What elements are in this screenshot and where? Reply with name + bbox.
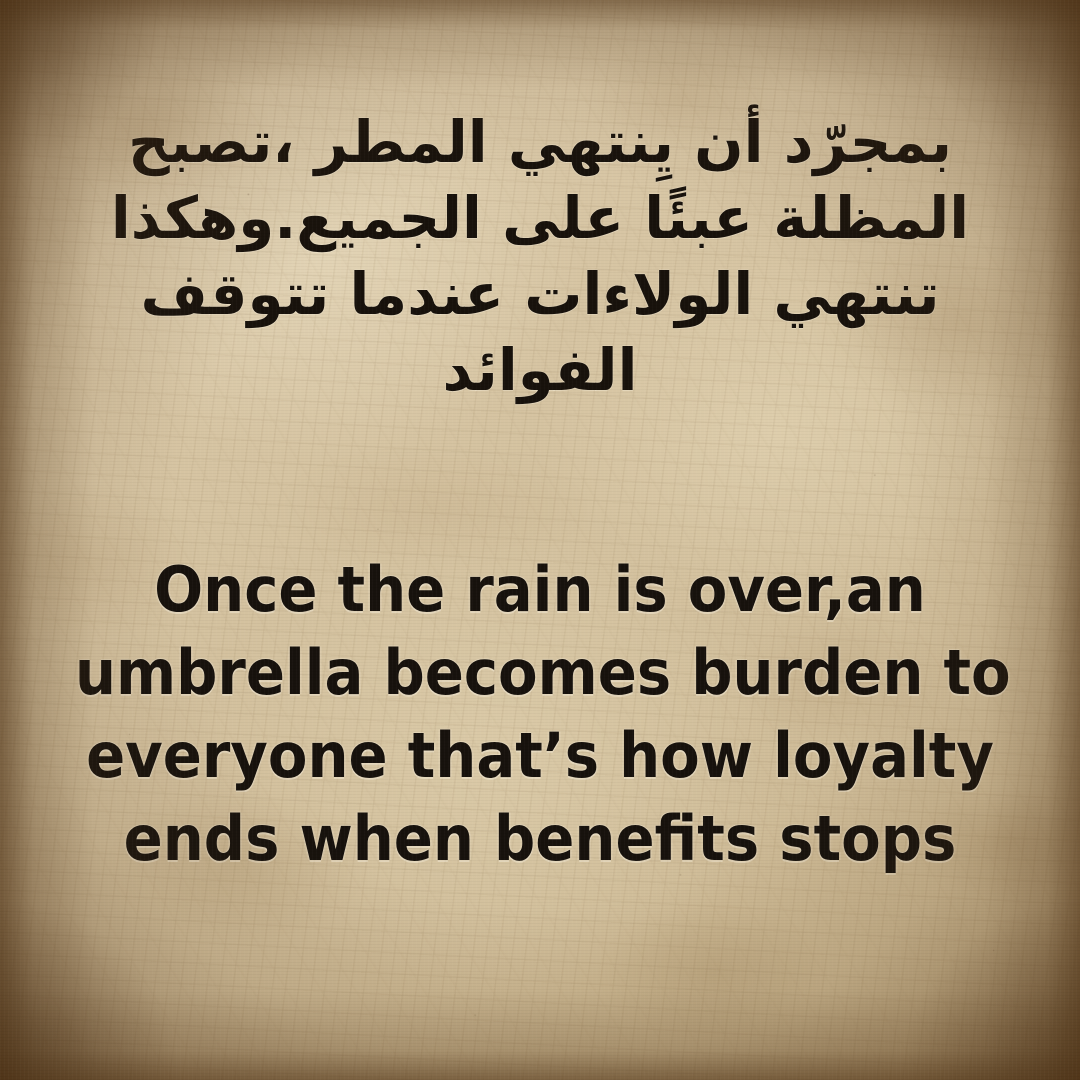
corner-burn-overlay <box>0 0 1080 1080</box>
quote-card: بمجرّد أن يِنتهي المطر ،تصبح المظلة عبئً… <box>0 0 1080 1080</box>
